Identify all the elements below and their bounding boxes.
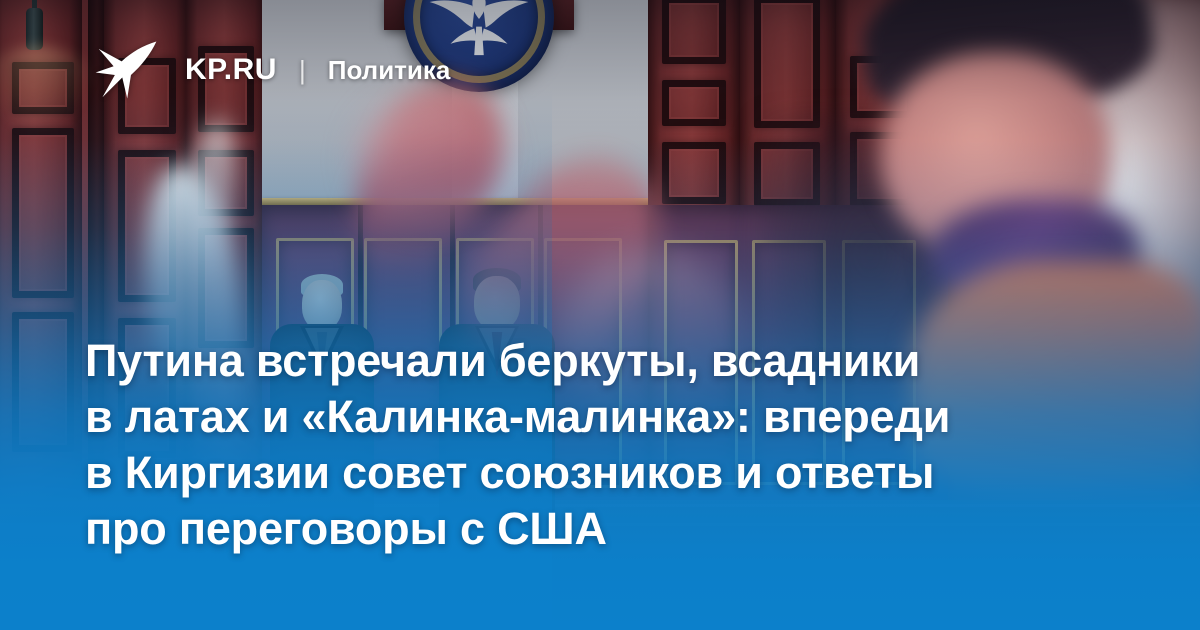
brand-name[interactable]: KP.RU xyxy=(185,55,277,85)
spotlight-fixture xyxy=(26,8,43,50)
kp-swallow-bird-icon[interactable] xyxy=(95,40,157,100)
article-headline: Путина встречали беркуты, всадники в лат… xyxy=(85,333,1105,557)
panel-moulding xyxy=(754,0,820,128)
brand-header: KP.RU | Политика xyxy=(95,40,450,100)
headline-line-2: в латах и «Калинка-малинка»: впереди xyxy=(85,389,1105,445)
headline-line-4: про переговоры с США xyxy=(85,501,1105,557)
panel-moulding xyxy=(12,128,74,298)
blurred-pink-haze xyxy=(356,96,506,226)
panel-moulding xyxy=(662,142,726,204)
header-divider: | xyxy=(299,57,306,83)
headline-line-3: в Киргизии совет союзников и ответы xyxy=(85,445,1105,501)
rubric-label[interactable]: Политика xyxy=(328,57,451,83)
figure-head xyxy=(302,280,342,330)
panel-moulding xyxy=(662,0,726,64)
panel-moulding xyxy=(662,80,726,126)
social-share-card: KP.RU | Политика Путина встречали беркут… xyxy=(0,0,1200,630)
headline-line-1: Путина встречали беркуты, всадники xyxy=(85,333,1105,389)
